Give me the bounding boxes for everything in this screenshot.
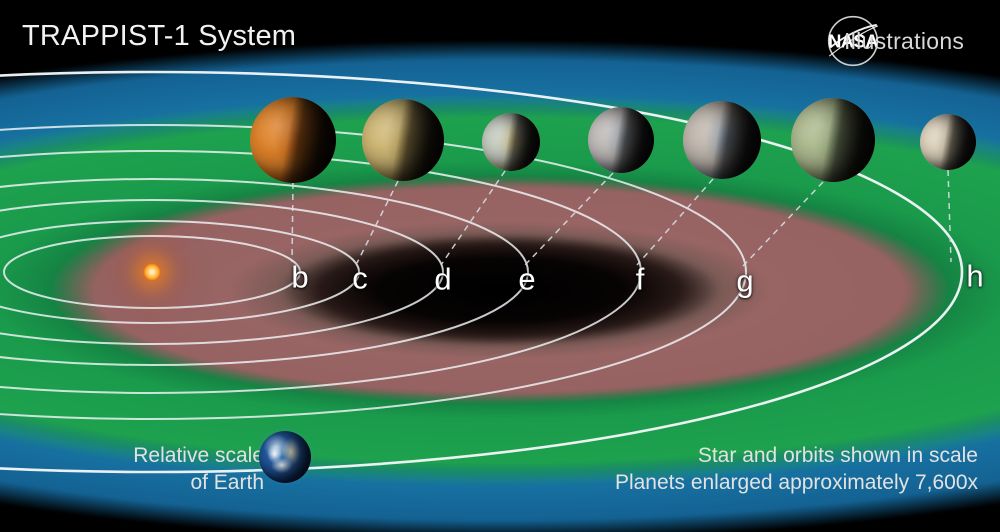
planet-h [920,114,976,170]
planet-b [250,97,336,183]
orbit-label-d: d [434,264,451,295]
orbit-label-g: g [736,266,753,297]
earth-reference-globe [259,431,311,483]
orbit-label-h: h [966,261,983,292]
orbit-label-f: f [636,264,645,295]
planet-terminator-shadow [588,107,654,173]
illustrations-label: Illustrations [844,28,964,55]
planet-g [791,98,875,182]
page-title: TRAPPIST-1 System [22,20,296,53]
relative-scale-line-1: Relative scale [104,443,264,470]
scale-note-caption: Star and orbits shown in scale Planets e… [615,443,978,497]
planet-terminator-shadow [920,114,976,170]
zone-inner-core [280,234,720,346]
relative-scale-line-2: of Earth [104,470,264,497]
scale-note-line-2: Planets enlarged approximately 7,600x [615,470,978,497]
planet-d [482,113,540,171]
trappist-1-infographic: bcdefgh TRAPPIST-1 System NASA Illustrat… [0,0,1000,532]
orbit-label-e: e [518,264,535,295]
planet-terminator-shadow [250,97,336,183]
planet-terminator-shadow [683,101,761,179]
relative-scale-caption: Relative scale of Earth [104,443,264,497]
star-trappist-1 [143,263,161,281]
planet-e [588,107,654,173]
orbit-label-c: c [352,263,368,294]
scale-note-line-1: Star and orbits shown in scale [615,443,978,470]
nasa-illustrations-logo: NASA Illustrations [816,10,986,72]
planet-terminator-shadow [482,113,540,171]
orbital-disk [0,150,1000,430]
orbit-label-b: b [291,262,308,293]
planet-terminator-shadow [362,99,444,181]
planet-c [362,99,444,181]
planet-terminator-shadow [791,98,875,182]
planet-f [683,101,761,179]
